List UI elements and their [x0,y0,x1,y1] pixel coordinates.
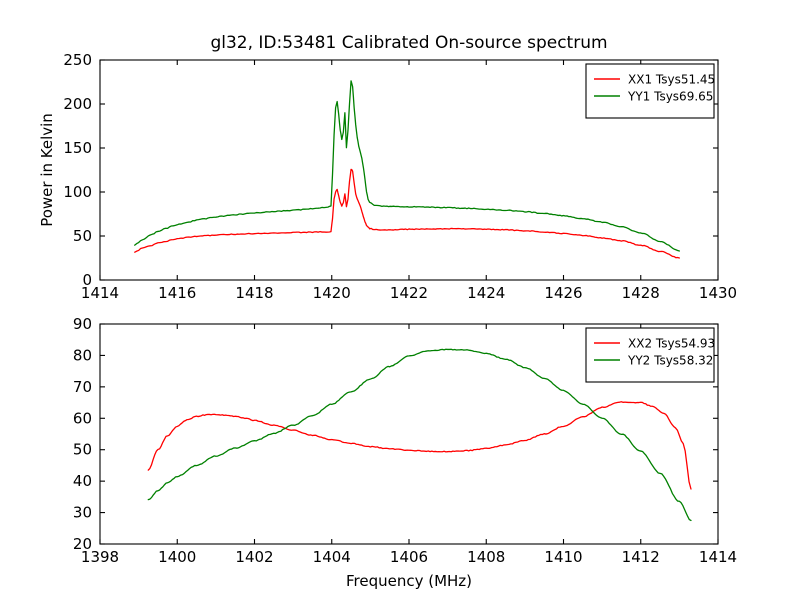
y-tick-label-bottom: 50 [73,441,92,459]
y-tick-label-bottom: 60 [73,409,92,427]
x-tick-label-bottom: 1406 [390,548,428,566]
x-tick-label-top: 1420 [313,284,351,302]
y-tick-label-top: 250 [63,51,92,69]
axes-bottom: 1398140014021404140614081410141214142030… [73,315,737,590]
x-tick-label-top: 1416 [158,284,196,302]
x-tick-label-bottom: 1402 [235,548,273,566]
x-tick-label-bottom: 1400 [158,548,196,566]
y-tick-label-bottom: 30 [73,504,92,522]
y-tick-label-top: 0 [82,271,92,289]
legend-top: XX1 Tsys51.45YY1 Tsys69.65 [586,64,715,118]
x-tick-label-bottom: 1404 [313,548,351,566]
y-tick-label-bottom: 90 [73,315,92,333]
x-tick-label-bottom: 1412 [622,548,660,566]
series-line-top-0 [135,169,680,258]
legend-label-top-1: YY1 Tsys69.65 [627,90,713,104]
x-tick-label-top: 1426 [544,284,582,302]
plot-title-top: gl32, ID:53481 Calibrated On-source spec… [210,33,607,53]
x-tick-label-top: 1418 [235,284,273,302]
legend-label-bottom-1: YY2 Tsys58.32 [627,354,713,368]
axes-top: 1414141614181420142214241426142814300501… [38,33,737,302]
figure-canvas: 1414141614181420142214241426142814300501… [0,0,800,600]
y-tick-label-top: 150 [63,139,92,157]
x-tick-label-top: 1424 [467,284,505,302]
y-tick-label-top: 200 [63,95,92,113]
legend-label-bottom-0: XX2 Tsys54.93 [628,337,715,351]
x-tick-label-bottom: 1414 [699,548,737,566]
legend-label-top-0: XX1 Tsys51.45 [628,73,715,87]
x-tick-label-top: 1428 [622,284,660,302]
x-tick-label-top: 1430 [699,284,737,302]
x-axis-label-bottom: Frequency (MHz) [346,572,472,590]
y-axis-label-top: Power in Kelvin [38,113,56,227]
y-tick-label-bottom: 20 [73,535,92,553]
y-tick-label-bottom: 70 [73,378,92,396]
y-tick-label-top: 50 [73,227,92,245]
x-tick-label-bottom: 1408 [467,548,505,566]
series-line-bottom-0 [148,402,691,489]
y-tick-label-top: 100 [63,183,92,201]
matplotlib-figure: 1414141614181420142214241426142814300501… [0,0,800,600]
x-tick-label-bottom: 1410 [544,548,582,566]
y-tick-label-bottom: 40 [73,472,92,490]
y-tick-label-bottom: 80 [73,346,92,364]
legend-bottom: XX2 Tsys54.93YY2 Tsys58.32 [586,328,715,382]
x-tick-label-top: 1422 [390,284,428,302]
